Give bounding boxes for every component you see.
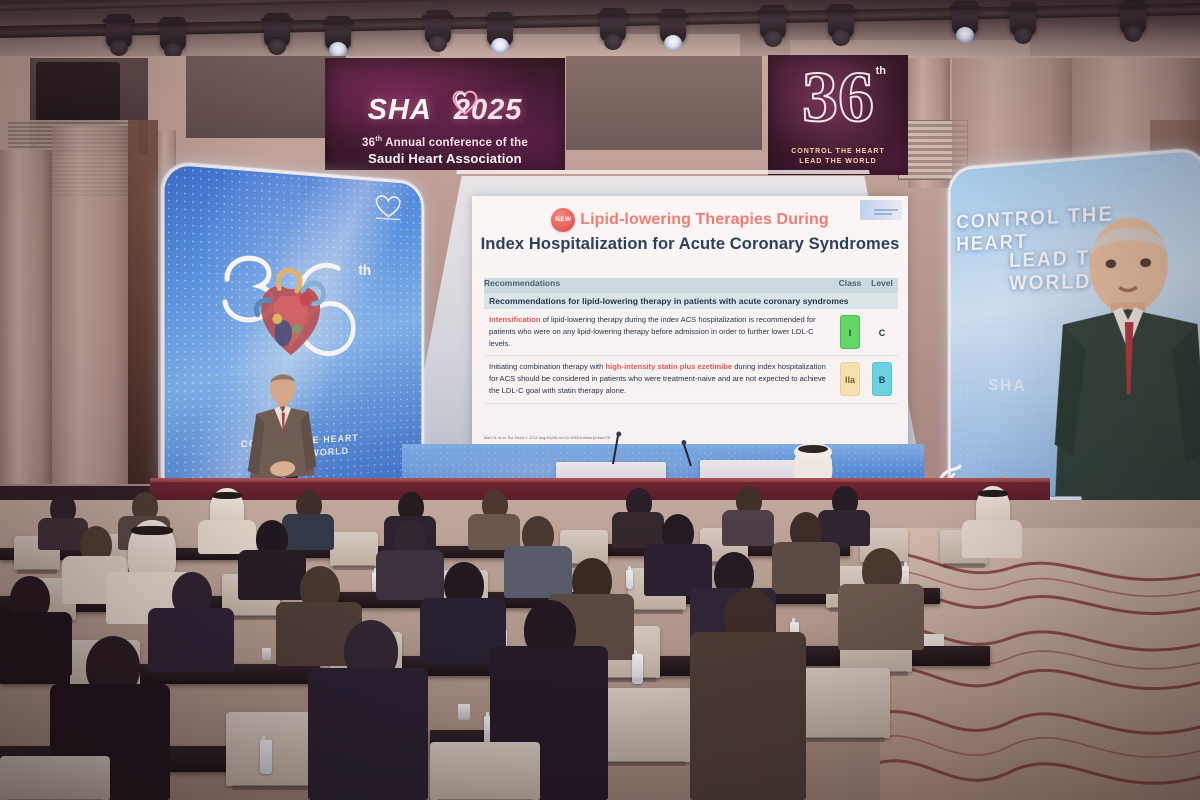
sha-banner-logo: SHA2025	[325, 94, 565, 127]
banner-36th: 36 th CONTROL THE HEART LEAD THE WORLD	[768, 55, 908, 175]
recommendation-text: Intensification of lipid-lowering therap…	[489, 314, 829, 349]
audience-torso	[148, 608, 234, 672]
class-badge: I	[840, 315, 860, 349]
audience-torso	[772, 542, 840, 594]
stage-light-icon	[952, 1, 978, 35]
audience-torso	[282, 514, 334, 550]
table-row: Intensification of lipid-lowering therap…	[484, 309, 898, 356]
audience-agal	[131, 526, 173, 535]
audience-chair	[330, 532, 378, 566]
stage-light-icon	[1120, 0, 1146, 34]
stage-light-icon	[325, 16, 351, 50]
water-bottle	[626, 570, 633, 589]
camera-feed-speaker	[1055, 182, 1200, 519]
stage-light-icon	[487, 12, 513, 46]
banner-36-tagline-1: CONTROL THE HEART	[768, 148, 908, 155]
stage-light-icon	[600, 8, 626, 42]
table-section-header: Recommendations for lipid-lowering thera…	[484, 293, 898, 309]
stage-light-icon	[1010, 2, 1036, 36]
audience-chair	[430, 742, 540, 800]
sha-banner-logo-text: SHA	[368, 94, 432, 126]
audience-torso	[0, 612, 72, 676]
stage-light-icon	[828, 4, 854, 38]
slide-citation: Marx N. et al. Eur Heart J. 2024 Aug;45(…	[484, 436, 610, 440]
banner-36-suffix: th	[876, 65, 886, 77]
audience-torso	[504, 546, 572, 598]
stage-light-icon	[106, 14, 132, 48]
led-right-tagline-3: SHA	[988, 377, 1027, 397]
wall-panel-dark	[186, 56, 346, 138]
audience-torso	[838, 584, 924, 650]
stage-light-icon	[660, 9, 686, 43]
audience-torso	[690, 632, 806, 800]
column-header-class: Class	[834, 278, 866, 293]
column-header-level: Level	[866, 278, 898, 293]
audience-torso	[308, 668, 428, 800]
banner-36-tagline-2: LEAD THE WORLD	[768, 158, 908, 165]
audience-torso	[468, 514, 520, 550]
audience-torso	[612, 512, 664, 548]
wall-column	[0, 150, 52, 484]
new-badge: NEW	[551, 208, 575, 232]
drinking-glass	[262, 648, 271, 660]
stage-light-icon	[264, 13, 290, 47]
audience-agal	[978, 490, 1008, 497]
table-row: Initiating combination therapy with high…	[484, 356, 898, 403]
level-cell: C	[866, 309, 898, 356]
audience-agal	[212, 492, 242, 499]
audience-chair	[0, 756, 110, 800]
water-bottle	[632, 654, 643, 684]
wall-panel-dark	[566, 56, 762, 150]
presentation-slide: NEWLipid-lowering Therapies During Index…	[472, 196, 908, 446]
sha-2025-banner: SHA2025 36th Annual conference of the Sa…	[325, 58, 565, 170]
sha-logo-icon	[367, 191, 408, 224]
audience-torso	[722, 510, 774, 546]
audience-chair	[800, 668, 890, 738]
audience-torso	[376, 550, 444, 600]
audience-torso	[238, 550, 306, 600]
wall-column	[52, 126, 130, 484]
sha-banner-subtitle-1: 36th Annual conference of the	[325, 136, 565, 149]
wall-accent	[128, 120, 158, 484]
recommendations-table: Recommendations Class Level Recommendati…	[484, 278, 898, 404]
audience-torso	[198, 520, 256, 554]
slide-title-line-2: Index Hospitalization for Acute Coronary…	[472, 235, 908, 254]
level-badge: C	[879, 328, 886, 338]
heart-icon	[452, 90, 478, 116]
table-header-row: Recommendations Class Level	[484, 278, 898, 293]
slide-title: NEWLipid-lowering Therapies During Index…	[472, 208, 908, 254]
slide-title-line-1: Lipid-lowering Therapies During	[580, 211, 828, 229]
class-cell: IIa	[834, 356, 866, 403]
stage-light-icon	[425, 10, 451, 44]
class-cell: I	[834, 309, 866, 356]
water-bottle	[902, 566, 909, 585]
conference-hall-scene: SHA2025 36th Annual conference of the Sa…	[0, 0, 1200, 800]
stage-light-icon	[760, 5, 786, 39]
water-bottle	[260, 740, 272, 774]
level-cell: B	[866, 356, 898, 403]
led-screen-left: th CONTROL THE HEART LEAD THE WORLD	[161, 161, 424, 504]
table-section-header-row: Recommendations for lipid-lowering thera…	[484, 293, 898, 309]
recommendation-text: Initiating combination therapy with high…	[489, 361, 829, 396]
banner-36-number: 36	[768, 61, 908, 133]
audience-torso	[818, 510, 870, 546]
class-badge: IIa	[840, 362, 860, 396]
column-header-recommendations: Recommendations	[484, 278, 834, 293]
stage-light-icon	[160, 17, 186, 51]
svg-text:th: th	[358, 263, 371, 280]
sha-banner-subtitle-2: Saudi Heart Association	[325, 151, 565, 166]
audience-chair	[596, 688, 692, 762]
level-badge: B	[872, 362, 892, 396]
audience-torso	[962, 520, 1022, 558]
drinking-glass	[458, 704, 470, 720]
